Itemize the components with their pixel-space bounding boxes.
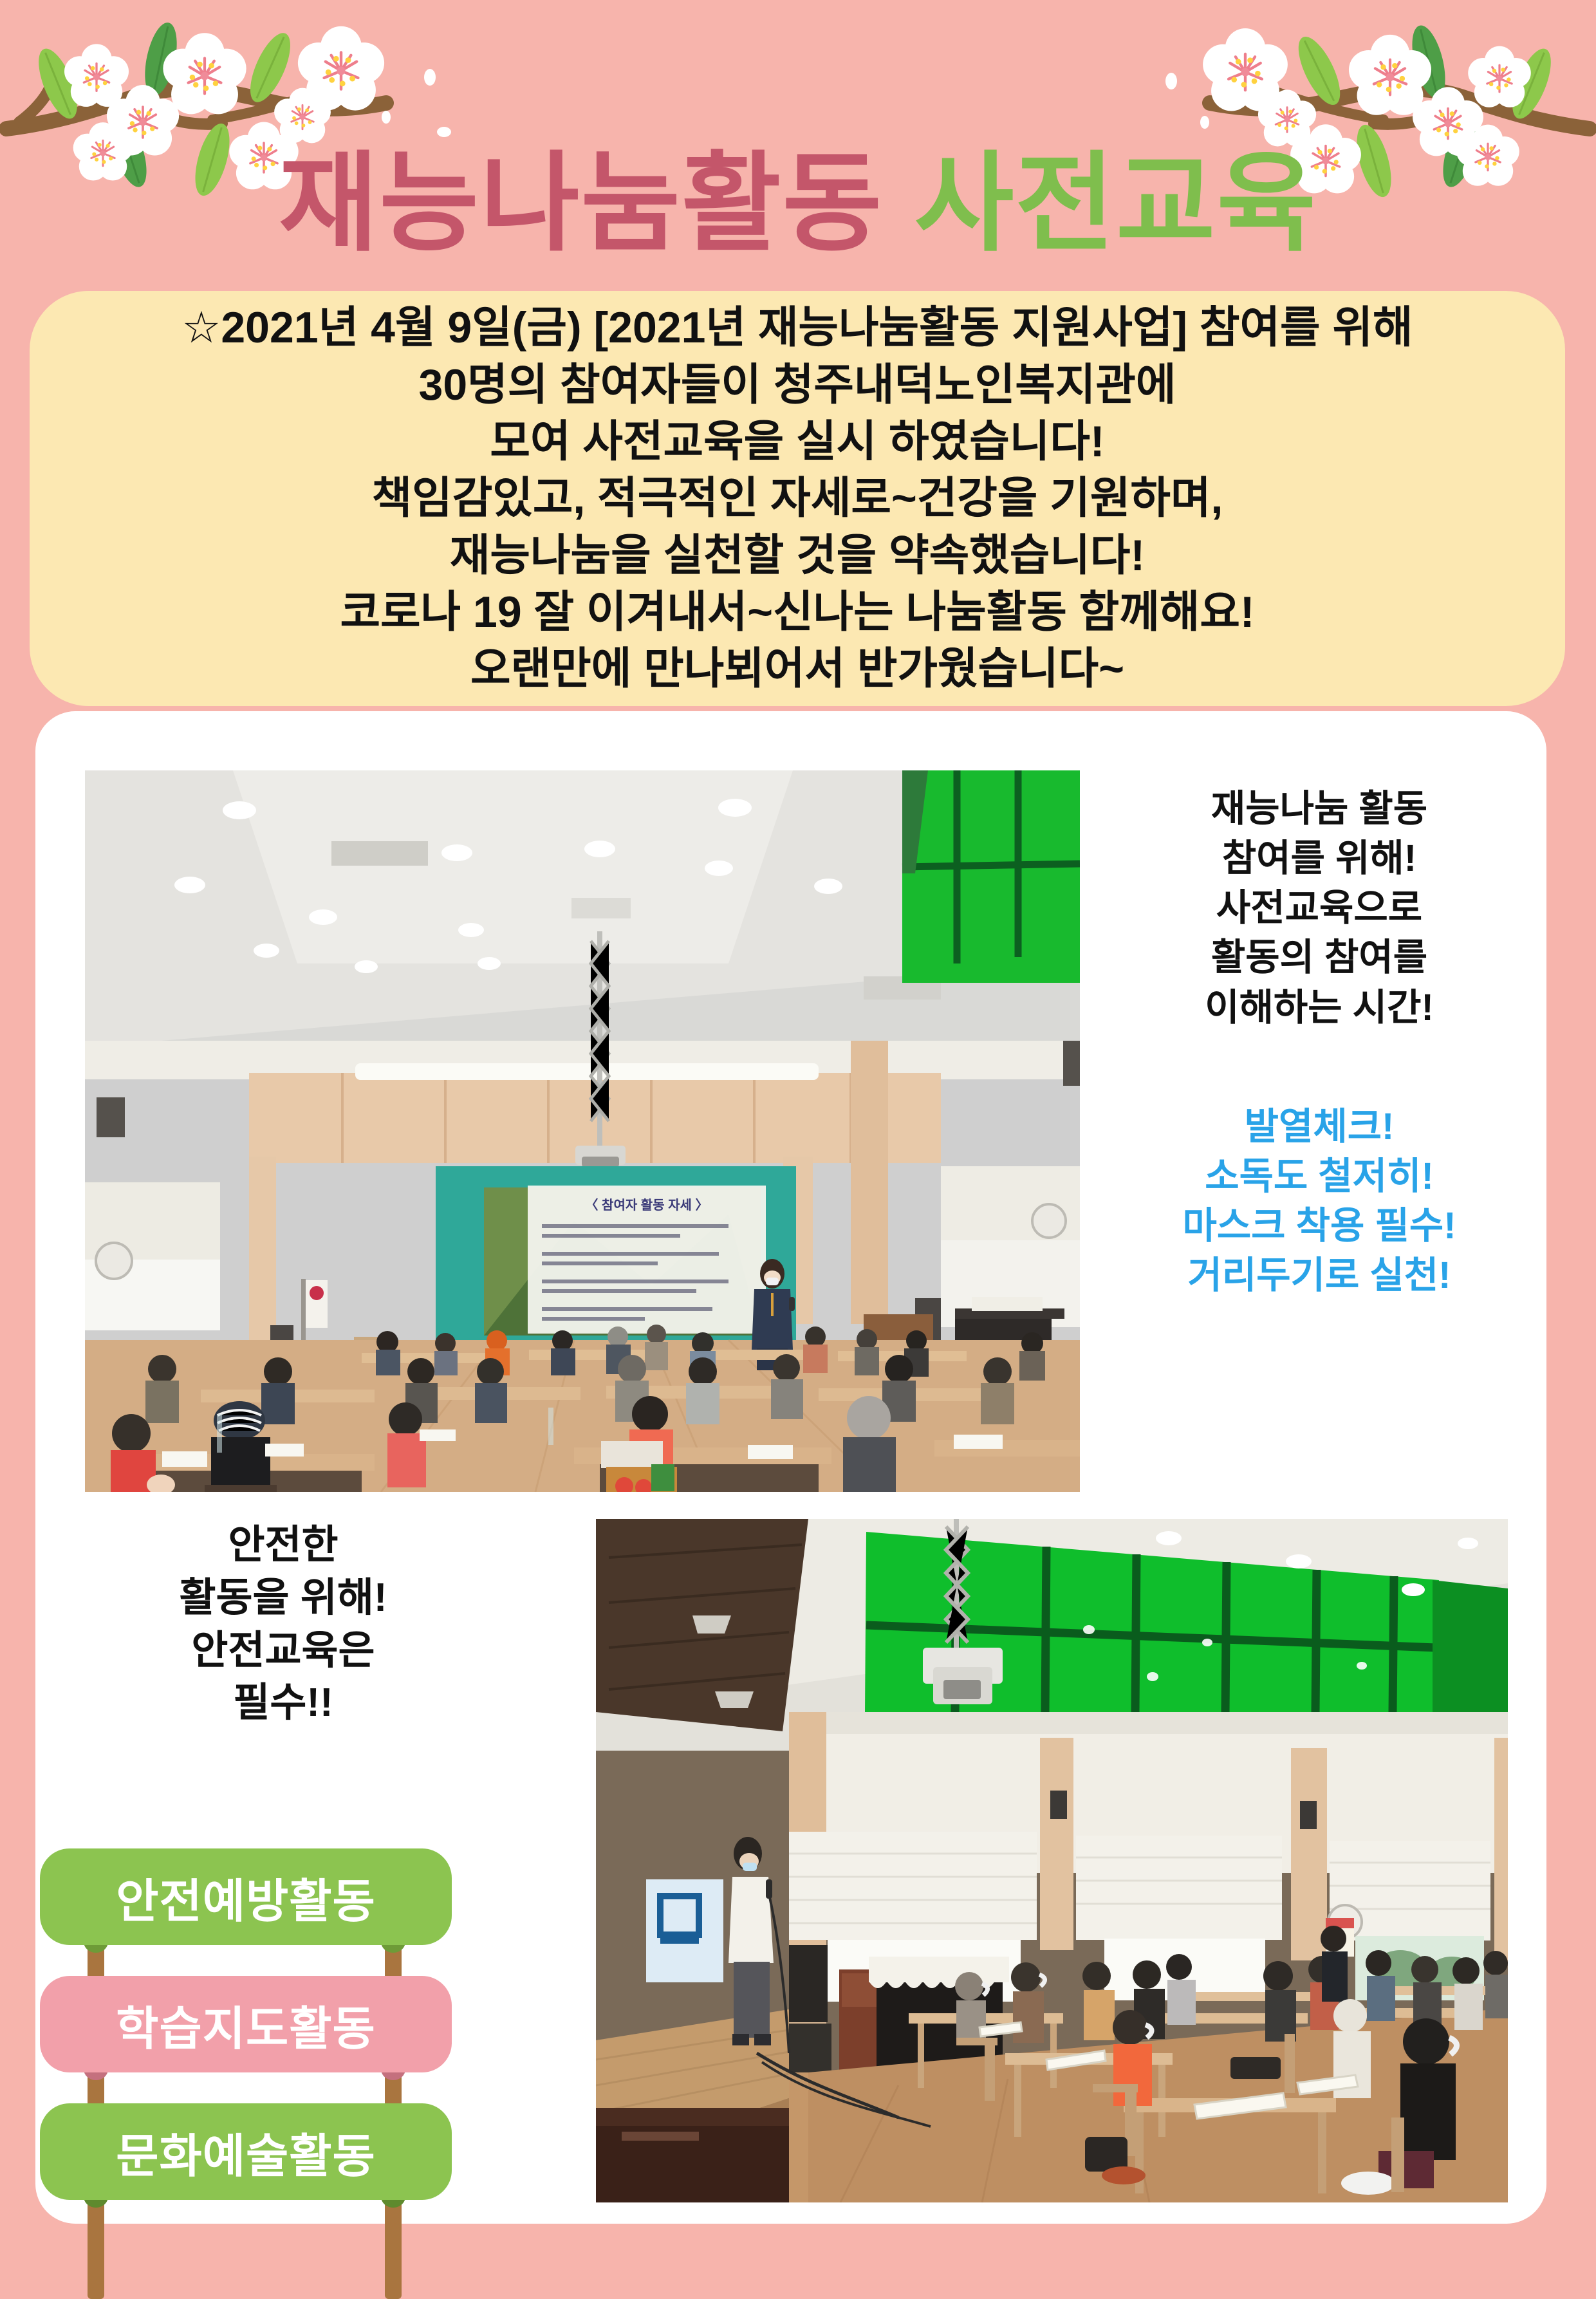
left-caption-line: 안전교육은	[39, 1624, 528, 1677]
covid-rule-line: 마스크 착용 필수!	[1094, 1201, 1545, 1251]
left-caption-line: 필수!!	[39, 1677, 528, 1729]
message-card: ☆2021년 4월 9일(금) [2021년 재능나눔활동 지원사업] 참여를 …	[30, 291, 1565, 706]
left-caption-line: 활동을 위해!	[39, 1572, 528, 1624]
right-caption-line: 활동의 참여를	[1094, 933, 1545, 982]
covid-rule-line: 소독도 철저히!	[1094, 1151, 1545, 1201]
title-part-two: 사전교육	[914, 143, 1317, 264]
svg-text:〈 참여자 활동 자세 〉: 〈 참여자 활동 자세 〉	[585, 1198, 708, 1213]
title-part-one: 재능나눔활동	[279, 143, 883, 264]
badge-learning-guidance[interactable]: 학습지도활동	[40, 1976, 452, 2072]
right-caption-line: 사전교육으로	[1094, 883, 1545, 933]
right-caption-line: 재능나눔 활동	[1094, 784, 1545, 833]
right-caption-line: 이해하는 시간!	[1094, 983, 1545, 1032]
message-line: 코로나 19 잘 이겨내서~신나는 나눔활동 함께해요!	[340, 584, 1254, 640]
activity-badge-list: 안전예방활동 학습지도활동 문화예술활동	[40, 1848, 490, 2231]
right-caption-column: 재능나눔 활동 참여를 위해! 사전교육으로 활동의 참여를 이해하는 시간! …	[1094, 784, 1545, 1300]
covid-rule-line: 발열체크!	[1094, 1102, 1545, 1151]
message-line: ☆2021년 4월 9일(금) [2021년 재능나눔활동 지원사업] 참여를 …	[181, 299, 1413, 356]
falling-petal	[1165, 73, 1209, 129]
message-line: 책임감있고, 적극적인 자세로~건강을 기원하며,	[372, 470, 1223, 526]
message-line: 30명의 참여자들이 청주내덕노인복지관에	[419, 357, 1176, 413]
badge-row: 학습지도활동	[40, 1976, 490, 2087]
photo-safety-education	[596, 1519, 1508, 2202]
right-caption-line: 참여를 위해!	[1094, 833, 1545, 883]
poster-root: 재능나눔활동 사전교육 ☆2021년 4월 9일(금) [2021년 재능나눔활…	[0, 0, 1596, 2258]
message-line: 오랜만에 만나뵈어서 반가웠습니다~	[470, 640, 1124, 697]
message-line: 모여 사전교육을 실시 하였습니다!	[490, 413, 1104, 470]
covid-rule-line: 거리두기로 실천!	[1094, 1251, 1545, 1300]
badge-culture-arts[interactable]: 문화예술활동	[40, 2103, 452, 2200]
falling-petal	[382, 69, 451, 137]
badge-safety-prevention[interactable]: 안전예방활동	[40, 1848, 452, 1945]
photo-classroom-overview: 〈 참여자 활동 자세 〉	[85, 770, 1080, 1492]
message-line: 재능나눔을 실천할 것을 약속했습니다!	[450, 527, 1145, 584]
badge-row: 안전예방활동	[40, 1848, 490, 1959]
badge-row: 문화예술활동	[40, 2103, 490, 2214]
left-caption-column: 안전한 활동을 위해! 안전교육은 필수!!	[39, 1519, 528, 1729]
left-caption-line: 안전한	[39, 1519, 528, 1572]
caption-spacer	[1094, 1032, 1545, 1102]
poster-title: 재능나눔활동 사전교육	[0, 149, 1596, 257]
